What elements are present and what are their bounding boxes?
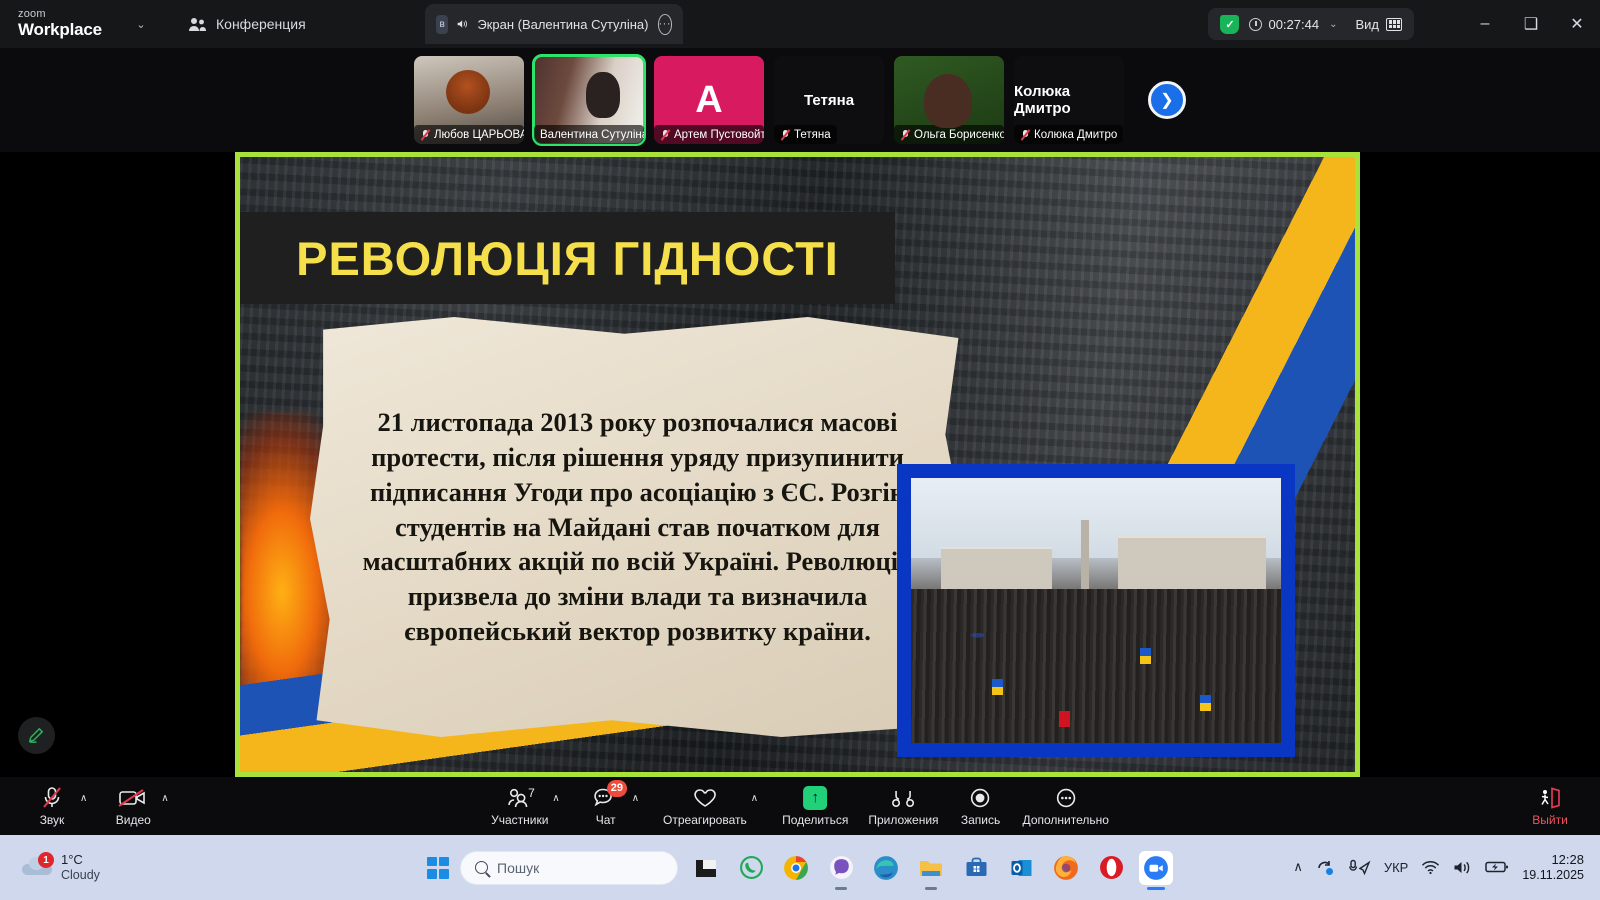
participant-filmstrip: Любов ЦАРЬОВА Валентина Сутуліна A Артем… (0, 48, 1600, 152)
participant-tile-active[interactable]: Валентина Сутуліна (534, 56, 644, 144)
meeting-timer[interactable]: 00:27:44 (1249, 17, 1319, 32)
security-shield-icon[interactable]: ✓ (1220, 15, 1239, 34)
battery-charging-icon[interactable] (1485, 860, 1509, 874)
react-chevron-up-icon[interactable]: ∧ (747, 793, 762, 820)
mic-muted-icon (900, 129, 910, 141)
weather-widget[interactable]: 1 1°C Cloudy (22, 852, 100, 882)
photo-building (1118, 536, 1266, 594)
clock-date: 19.11.2025 (1522, 868, 1584, 883)
chat-unread-badge: 29 (607, 780, 627, 797)
taskbar-app-file-explorer-dark[interactable] (689, 851, 723, 885)
share-screen-button-label: Поделиться (782, 813, 848, 827)
microsoft-store-icon (964, 856, 989, 880)
react-button-label: Отреагировать (663, 813, 747, 827)
share-arrow-up-icon: ↑ (803, 786, 827, 810)
slide-title-banner: РЕВОЛЮЦІЯ ГІДНОСТІ (240, 212, 895, 304)
more-horizontal-icon (1053, 786, 1079, 810)
weather-condition: Cloudy (61, 868, 100, 883)
slide-text-parchment: 21 листопада 2013 року розпочалися масов… (310, 317, 965, 737)
chrome-icon (783, 855, 809, 881)
clock-icon (1249, 18, 1262, 31)
record-icon (968, 786, 994, 810)
participant-name: Ольга Борисенко (914, 129, 1004, 141)
apps-button-label: Приложения (868, 813, 938, 827)
participant-name: Валентина Сутуліна (540, 129, 644, 141)
zoom-logo: zoom Workplace (18, 9, 114, 38)
video-button[interactable]: Видео (111, 777, 155, 835)
timer-chevron-down-icon[interactable]: ⌄ (1329, 19, 1337, 30)
weather-text: 1°C Cloudy (61, 852, 100, 882)
pencil-icon (27, 726, 46, 745)
onedrive-sync-icon[interactable] (1316, 859, 1336, 876)
people-icon (188, 17, 207, 32)
filmstrip-next-button[interactable]: ❯ (1148, 81, 1186, 119)
whatsapp-icon (739, 855, 764, 880)
more-options-icon[interactable]: ··· (658, 14, 673, 35)
windows-taskbar: 1 1°C Cloudy Пошук (0, 835, 1600, 900)
apps-button[interactable]: Приложения (868, 777, 938, 835)
toolbar-right-group: Выйти (1528, 777, 1572, 835)
toolbar-center-group: 70 Участники ∧ 29 Чат (491, 777, 1109, 835)
more-button-label: Дополнительно (1023, 813, 1109, 827)
participants-chevron-up-icon[interactable]: ∧ (548, 793, 563, 820)
edge-icon (873, 855, 899, 881)
participant-tile[interactable]: A Артем Пустовойт (654, 56, 764, 144)
speaker-icon (457, 17, 468, 31)
share-screen-button[interactable]: ↑ Поделиться (782, 777, 848, 835)
leave-meeting-button[interactable]: Выйти (1528, 777, 1572, 835)
participant-tile[interactable]: Тетяна Тетяна (774, 56, 884, 144)
audio-button-label: Звук (40, 813, 65, 827)
annotate-button[interactable] (18, 717, 55, 754)
opera-icon (1099, 855, 1124, 880)
photo-flag (1059, 711, 1070, 727)
record-button-label: Запись (961, 813, 1000, 827)
participant-nameplate: Артем Пустовойт (654, 125, 764, 144)
photo-flag (1200, 695, 1211, 711)
participants-icon: 70 (505, 786, 535, 810)
wifi-icon[interactable] (1421, 860, 1440, 875)
weather-temperature: 1°C (61, 852, 100, 867)
screen-share-tab[interactable]: в Экран (Валентина Сутуліна) ··· (425, 4, 683, 44)
toolbar-left-group: Звук ∧ Видео ∧ (30, 777, 173, 835)
participant-nameplate: Любов ЦАРЬОВА (414, 125, 524, 144)
participant-tile[interactable]: Любов ЦАРЬОВА (414, 56, 524, 144)
zoom-logo-line2: Workplace (18, 21, 114, 39)
share-screen-icon: ↑ (803, 786, 827, 810)
shared-screen-stage: РЕВОЛЮЦІЯ ГІДНОСТІ 21 листопада 2013 рок… (0, 152, 1600, 777)
video-muted-icon (118, 786, 148, 810)
search-placeholder: Пошук (497, 860, 539, 876)
outlook-icon (1009, 856, 1034, 880)
firefox-icon (1053, 855, 1079, 881)
zoom-meeting-window: zoom Workplace ⌄ Конференция в Экран (Ва… (0, 0, 1600, 900)
tray-overflow-chevron-up-icon[interactable]: ∧ (1293, 859, 1303, 875)
slide-title: РЕВОЛЮЦІЯ ГІДНОСТІ (296, 231, 839, 286)
participant-tile[interactable]: Колюка Дмитро Колюка Дмитро (1014, 56, 1124, 144)
mic-muted-icon (660, 129, 670, 141)
participant-name: Колюка Дмитро (1034, 129, 1117, 141)
mic-tray-icon[interactable] (1349, 859, 1371, 876)
window-controls: – ❑ ✕ (1462, 0, 1600, 48)
weather-notification-badge: 1 (38, 852, 54, 868)
audio-button[interactable]: Звук (30, 777, 74, 835)
taskbar-search-input[interactable]: Пошук (460, 851, 678, 885)
language-indicator[interactable]: УКР (1384, 860, 1409, 875)
app-running-indicator (925, 887, 937, 890)
participants-count: 70 (528, 787, 535, 800)
share-tab-badge: в (436, 15, 448, 34)
minimize-button[interactable]: – (1462, 0, 1508, 48)
participant-nameplate: Колюка Дмитро (1014, 125, 1123, 144)
mic-muted-icon (420, 129, 430, 141)
meeting-tab[interactable]: Конференция (188, 16, 306, 32)
presentation-slide: РЕВОЛЮЦІЯ ГІДНОСТІ 21 листопада 2013 рок… (235, 152, 1360, 777)
close-button[interactable]: ✕ (1554, 0, 1600, 48)
restore-button[interactable]: ❑ (1508, 0, 1554, 48)
taskbar-app-zoom[interactable] (1139, 851, 1173, 885)
mic-muted-icon (1020, 129, 1030, 141)
chat-button-label: Чат (596, 813, 616, 827)
mic-muted-icon (780, 129, 790, 141)
title-bar: zoom Workplace ⌄ Конференция в Экран (Ва… (0, 0, 1600, 48)
share-tab-title: Экран (Валентина Сутуліна) (477, 17, 648, 32)
photo-flag (1140, 648, 1151, 664)
taskbar-app-whatsapp[interactable] (734, 851, 768, 885)
record-button[interactable]: Запись (959, 777, 1003, 835)
taskbar-app-opera[interactable] (1094, 851, 1128, 885)
chevron-down-icon[interactable]: ⌄ (128, 11, 154, 37)
meeting-tab-label: Конференция (216, 16, 306, 32)
taskbar-center-group: Пошук (427, 851, 1173, 885)
chat-chevron-up-icon[interactable]: ∧ (628, 793, 643, 820)
photo-building (941, 547, 1052, 595)
video-button-label: Видео (116, 813, 151, 827)
taskbar-app-store[interactable] (959, 851, 993, 885)
audio-chevron-up-icon[interactable]: ∧ (76, 793, 91, 820)
participant-name: Артем Пустовойт (674, 129, 764, 141)
maidan-photo-frame (897, 464, 1295, 757)
folder-icon (918, 857, 944, 879)
taskbar-app-outlook[interactable] (1004, 851, 1038, 885)
windows-start-icon[interactable] (427, 857, 449, 879)
taskbar-clock[interactable]: 12:28 19.11.2025 (1522, 852, 1584, 883)
file-explorer-dark-icon (694, 857, 718, 879)
view-button[interactable]: Вид (1355, 17, 1402, 32)
slide-body-text: 21 листопада 2013 року розпочалися масов… (344, 405, 931, 650)
participant-name: Любов ЦАРЬОВА (434, 129, 524, 141)
leave-door-icon (1537, 786, 1563, 810)
meeting-timer-value: 00:27:44 (1268, 17, 1319, 32)
chat-icon: 29 (593, 786, 619, 810)
leave-meeting-label: Выйти (1532, 813, 1568, 827)
participant-nameplate: Ольга Борисенко (894, 125, 1004, 144)
search-icon (475, 861, 488, 874)
view-button-label: Вид (1355, 17, 1379, 32)
participants-button[interactable]: 70 Участники (491, 777, 548, 835)
viber-icon (829, 855, 854, 880)
taskbar-app-viber[interactable] (824, 851, 858, 885)
participant-name: Тетяна (794, 129, 831, 141)
photo-flag (992, 679, 1003, 695)
apps-icon (890, 786, 916, 810)
participant-nameplate: Валентина Сутуліна (534, 125, 644, 144)
participants-button-label: Участники (491, 813, 548, 827)
chat-button[interactable]: 29 Чат (584, 777, 628, 835)
app-running-indicator (1147, 887, 1165, 890)
participant-tile[interactable]: Ольга Борисенко (894, 56, 1004, 144)
app-running-indicator (835, 887, 847, 890)
meeting-toolbar: Звук ∧ Видео ∧ (0, 777, 1600, 835)
clock-time: 12:28 (1522, 852, 1584, 868)
maidan-photo (911, 478, 1281, 743)
taskbar-app-folder[interactable] (914, 851, 948, 885)
volume-icon[interactable] (1453, 860, 1472, 875)
participant-nameplate: Тетяна (774, 125, 837, 144)
meeting-status-group: ✓ 00:27:44 ⌄ Вид (1208, 8, 1414, 40)
video-chevron-up-icon[interactable]: ∧ (157, 793, 172, 820)
cloud-icon: 1 (22, 857, 52, 877)
system-tray: ∧ УКР (1293, 852, 1584, 883)
grid-view-icon (1386, 18, 1402, 31)
zoom-icon (1143, 855, 1169, 881)
heart-icon (692, 786, 718, 810)
photo-crowd (911, 589, 1281, 743)
react-button[interactable]: Отреагировать (663, 777, 747, 835)
taskbar-app-chrome[interactable] (779, 851, 813, 885)
taskbar-app-firefox[interactable] (1049, 851, 1083, 885)
taskbar-app-edge[interactable] (869, 851, 903, 885)
more-button[interactable]: Дополнительно (1023, 777, 1109, 835)
mic-muted-icon (41, 786, 63, 810)
